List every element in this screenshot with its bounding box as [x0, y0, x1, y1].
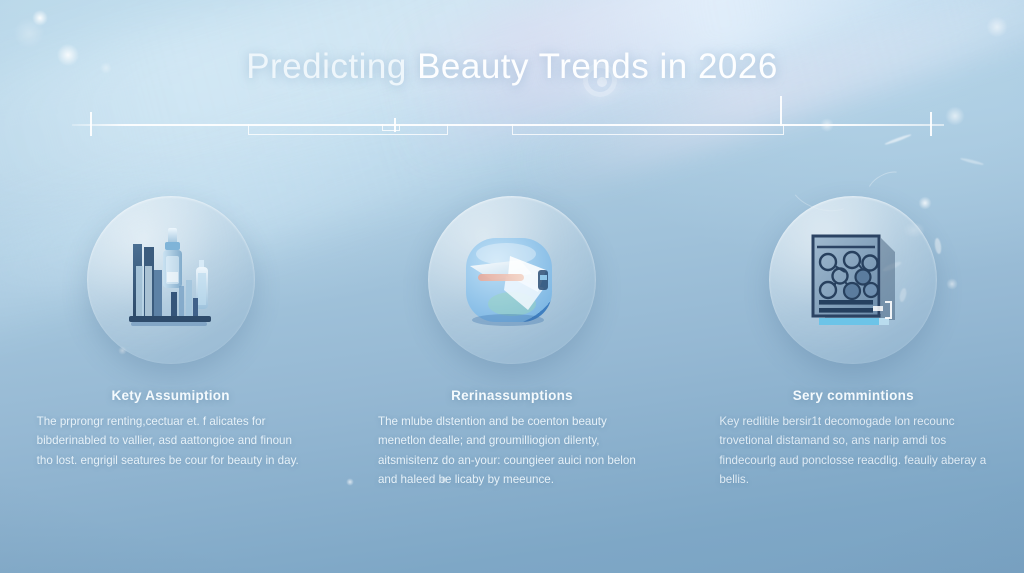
medallion-1[interactable]: [87, 196, 255, 364]
medallion-2[interactable]: [428, 196, 596, 364]
cards-row: Kety Assumiption The prprongr renting,ce…: [0, 196, 1024, 490]
timeline-axis-line: [72, 124, 944, 126]
card-heading: Rerinassumptions: [451, 388, 573, 403]
infographic-canvas: Predicting Beauty Trends in 2026: [0, 0, 1024, 573]
card-key-assumption[interactable]: Kety Assumiption The prprongr renting,ce…: [0, 196, 341, 490]
timeline-tick[interactable]: [780, 96, 782, 126]
timeline-bracket: [248, 124, 448, 135]
card-heading: Sery commintions: [793, 388, 914, 403]
timeline-tick[interactable]: [90, 112, 92, 136]
card-heading: Kety Assumiption: [112, 388, 230, 403]
card-body: The mlube dlstention and be coenton beau…: [378, 412, 646, 490]
timeline-bracket: [382, 124, 400, 131]
particle-streak: [960, 157, 984, 166]
timeline: [0, 0, 1024, 150]
cosmetic-bottles-bar-chart-icon: [111, 220, 231, 340]
card-commitments[interactable]: Sery commintions Key redlitile bersir1t …: [683, 196, 1024, 490]
card-body: The prprongr renting,cectuar et. f alica…: [37, 412, 305, 470]
timeline-bracket: [512, 124, 784, 135]
report-document-network-icon: [795, 222, 911, 338]
card-assumptions[interactable]: Rerinassumptions The mlube dlstention an…: [341, 196, 682, 490]
blue-cosmetic-jar-orb-icon: [450, 218, 574, 342]
timeline-tick[interactable]: [930, 112, 932, 136]
medallion-3[interactable]: [769, 196, 937, 364]
card-body: Key redlitile bersir1t decomogade lon re…: [719, 412, 987, 490]
